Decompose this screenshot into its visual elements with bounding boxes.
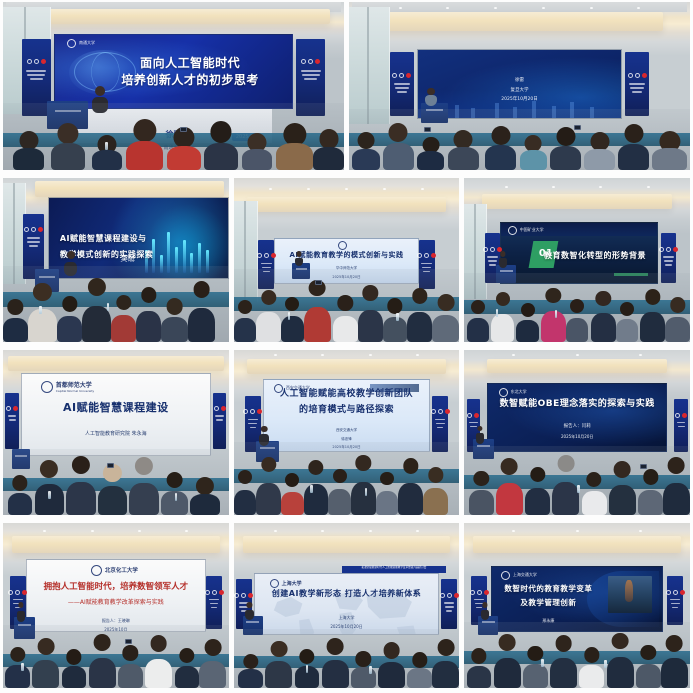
led-screen-6: 首都师范大学 Capital Normal University AI赋能智慧课… <box>21 373 211 456</box>
speaker-head <box>67 251 75 259</box>
banner-logo-icons <box>431 409 450 414</box>
audience-area <box>464 446 690 516</box>
phone-icon <box>640 464 647 469</box>
photo-tile-7[interactable]: 西安交通大学 人工智能赋能高校教学创新团队 的培育模式与路径探索 西安交通大学 … <box>234 350 460 516</box>
ceiling-light-cove <box>12 536 220 552</box>
audience-person <box>304 460 329 515</box>
university-seal-icon <box>274 384 283 393</box>
audience-person <box>609 461 636 515</box>
water-bottle <box>310 485 313 493</box>
audience-person <box>118 645 143 688</box>
audience-person <box>333 295 358 341</box>
header-strip-text: 拓课堂赋能新时代人工智能赋能教学变革暨第六届研讨会 <box>342 566 446 571</box>
audience-person <box>57 296 82 341</box>
speaker-head <box>296 251 301 256</box>
audience-person <box>161 298 188 342</box>
audience-person <box>265 641 292 688</box>
banner-logo-icons <box>234 593 253 598</box>
slide-title-line2: 及教学管理创新 <box>510 598 586 608</box>
ceiling-downlights <box>252 188 442 190</box>
speaker-figure <box>17 602 26 622</box>
slide-title-line1: 创建AI教学新形态 打造人才培养新体系 <box>261 589 432 600</box>
slide-title-line2: ——AI赋能教育教学改革探索与实践 <box>68 597 164 606</box>
university-seal-icon <box>501 571 510 580</box>
audience-person <box>552 455 579 515</box>
banner-logo-icons <box>205 590 224 595</box>
banner-logo-icons <box>8 590 27 595</box>
university-seal-icon <box>270 579 279 588</box>
audience-person <box>494 634 521 688</box>
speaker-body <box>245 610 253 621</box>
speaker-affiliation: 复旦大学 <box>511 88 529 95</box>
audience-person <box>665 297 690 341</box>
speaker-body <box>17 611 25 622</box>
audience-person <box>313 129 344 169</box>
audience-person <box>136 287 161 341</box>
audience-person <box>584 132 615 169</box>
phone-icon <box>107 463 114 468</box>
phone-icon <box>424 127 431 132</box>
audience-person <box>376 472 399 516</box>
slide-title-line2: 的培育模式与路径探索 <box>289 404 404 416</box>
audience-person <box>469 471 494 516</box>
side-banner-right <box>625 52 649 116</box>
ceiling-light-cove <box>243 536 451 552</box>
banner-logo-icons <box>392 73 411 78</box>
university-name: 东北大学 <box>511 389 527 395</box>
banner-logo-icons <box>417 253 436 258</box>
ceiling-light-cove <box>473 536 681 552</box>
audience-person <box>28 283 57 342</box>
audience-person <box>378 642 405 688</box>
banner-text-lines <box>670 596 682 611</box>
university-name: 南通大学 <box>79 40 95 46</box>
ceiling-light-cove <box>247 197 446 212</box>
audience-person <box>351 455 376 515</box>
slide-date: 2025年10月20日 <box>561 434 593 440</box>
photo-tile-8[interactable]: 东北大学 数智赋能OBE理念落实的探索与实践 报告人：闫莉 2025年10月20… <box>464 350 690 516</box>
photo-tile-5[interactable]: 中国矿业大学 01 教育数智化转型的形势背景 <box>464 178 690 342</box>
university-name: 北京化工大学 <box>105 566 138 574</box>
side-banner-left <box>390 52 414 116</box>
university-logo-11: 上海交通大学 <box>501 571 537 580</box>
university-logo-7: 西安交通大学 <box>274 384 310 393</box>
audience-person <box>582 472 607 515</box>
audience-person <box>496 458 523 515</box>
audience-person <box>663 457 690 515</box>
audience-person <box>51 123 85 170</box>
audience-area <box>3 266 229 341</box>
banner-logo-icons <box>214 406 226 411</box>
speaker-figure <box>498 251 507 267</box>
audience-person <box>467 648 492 688</box>
university-logo-9: 北京化工大学 <box>91 565 138 576</box>
audience-area <box>3 625 229 688</box>
slide-title-line1: 数智时代的教育教学变革 <box>494 584 602 594</box>
audience-area <box>464 622 690 688</box>
photo-tile-9[interactable]: 北京化工大学 拥抱人工智能时代，培养数智领军人才 ——AI赋能教育教学改革探索与… <box>3 523 229 688</box>
audience-person <box>607 633 634 688</box>
audience-person <box>407 288 432 341</box>
water-bottle <box>577 485 580 493</box>
university-name: 首都师范大学 <box>56 380 94 389</box>
audience-person <box>467 300 490 341</box>
audience-person <box>358 285 383 341</box>
banner-text-lines <box>26 68 47 83</box>
speaker-figure <box>480 602 489 620</box>
banner-logo-icons <box>470 590 489 595</box>
audience-person <box>618 124 649 170</box>
audience-person <box>432 294 459 342</box>
banner-logo-icons <box>243 409 262 414</box>
university-logo-6: 首都师范大学 Capital Normal University <box>41 380 94 393</box>
banner-text-lines <box>247 416 259 431</box>
photo-tile-1[interactable]: 南通大学 面向人工智能时代 培养创新人才的初步思考 徐骏 南通大学 2025.1… <box>3 2 344 170</box>
side-banner-left <box>5 393 19 449</box>
ceiling-downlights <box>482 530 672 532</box>
banner-logo-icons <box>628 73 647 78</box>
audience-area <box>234 269 460 341</box>
led-screen-1: 南通大学 面向人工智能时代 培养创新人才的初步思考 <box>54 34 293 109</box>
slide-title-line1: 面向人工智能时代 <box>126 55 254 71</box>
ceiling-light-cove <box>376 12 662 30</box>
ceiling-downlights <box>482 186 672 188</box>
university-logo-1: 南通大学 <box>67 39 95 48</box>
banner-text-lines <box>434 416 446 431</box>
speaker-figure <box>295 251 304 266</box>
water-bottle <box>48 491 51 499</box>
audience-area <box>3 103 344 170</box>
audience-person <box>591 291 616 342</box>
speaker-head <box>18 602 23 607</box>
photo-tile-2[interactable]: AI时代人才培养改革方向与路径 徐雷 复旦大学 2025年10月20日 <box>349 2 690 170</box>
audience-person <box>398 458 423 515</box>
speaker-head <box>247 602 252 607</box>
slide-title-line1: AI赋能智慧课程建设 <box>52 401 180 416</box>
led-screen-8: 东北大学 数智赋能OBE理念落实的探索与实践 报告人：闫莉 2025年10月20… <box>487 383 668 453</box>
audience-person <box>640 289 665 341</box>
audience-person <box>3 299 28 341</box>
audience-person <box>234 470 257 515</box>
university-name: 上海交通大学 <box>513 572 537 578</box>
university-name-en: Capital Normal University <box>56 389 94 393</box>
speaker-head <box>427 88 435 96</box>
university-seal-icon <box>67 39 76 48</box>
audience-area <box>349 109 690 169</box>
ceiling-light-cove <box>487 359 668 372</box>
banner-text-lines <box>393 81 411 96</box>
campus-photo-inset <box>608 576 652 613</box>
audience-person <box>89 634 116 688</box>
speaker-body <box>295 258 303 267</box>
audience-area <box>3 449 229 515</box>
audience-person <box>550 127 581 169</box>
audience-person <box>566 299 589 342</box>
audience-person <box>188 281 215 341</box>
water-bottle <box>107 303 110 311</box>
audience-person <box>242 133 273 170</box>
audience-person <box>516 303 539 342</box>
audience-person <box>525 467 550 516</box>
water-bottle <box>555 310 558 318</box>
university-seal-icon <box>41 381 53 393</box>
window-wall <box>349 7 390 124</box>
collage-row-2: AI赋能智慧课程建设与 教学模式创新的实践探索 吴砥 <box>3 178 690 342</box>
audience-person <box>175 648 200 688</box>
audience-person <box>579 647 604 688</box>
audience-person <box>126 119 164 170</box>
speaker-figure <box>245 602 254 620</box>
audience-person <box>541 288 566 342</box>
ceiling-downlights <box>482 354 672 356</box>
banner-logo-icons <box>27 59 46 64</box>
audience-person <box>98 464 127 516</box>
audience-person <box>256 457 281 515</box>
audience-person <box>66 456 95 516</box>
led-screen-9: 北京化工大学 拥抱人工智能时代，培养数智领军人才 ——AI赋能教育教学改革探索与… <box>26 559 207 631</box>
audience-person <box>638 469 663 515</box>
university-seal-icon <box>338 241 347 250</box>
audience-person <box>5 647 30 688</box>
audience-person <box>129 457 158 515</box>
speaker-name: 人工智能教育研究院 朱永海 <box>85 431 147 439</box>
banner-text-lines <box>215 413 225 424</box>
audience-person <box>383 298 408 341</box>
side-banner-right <box>674 399 688 452</box>
ceiling-light-cove <box>17 9 331 24</box>
speaker-head <box>500 251 505 256</box>
audience-person <box>238 654 263 688</box>
audience-person <box>234 300 257 342</box>
audience-area <box>464 273 690 342</box>
side-banner-right <box>213 393 227 449</box>
water-bottle <box>604 660 607 668</box>
speaker-name: 上海大学 <box>339 615 355 621</box>
audience-person <box>661 635 688 688</box>
ceiling-light-cove <box>35 181 225 197</box>
university-logo-8: 东北大学 <box>499 388 527 397</box>
audience-person <box>485 126 516 169</box>
collage-row-1: 南通大学 面向人工智能时代 培养创新人才的初步思考 徐骏 南通大学 2025.1… <box>3 2 690 170</box>
photo-tile-4[interactable]: AI赋能教育教学的模式创新与实践 华中师范大学 2025年10月20日 <box>234 178 460 342</box>
slide-title-line2: 教学模式创新的实践探索 <box>60 250 228 261</box>
audience-person <box>432 639 459 688</box>
speaker-name: 报告人：王晓琳 <box>102 618 130 624</box>
audience-person <box>111 295 136 342</box>
collage-row-4: 北京化工大学 拥抱人工智能时代，培养数智领军人才 ——AI赋能教育教学改革探索与… <box>3 523 690 688</box>
water-bottle <box>21 663 24 671</box>
audience-person <box>491 292 514 342</box>
audience-person <box>407 652 432 688</box>
photo-tile-3[interactable]: AI赋能智慧课程建设与 教学模式创新的实践探索 吴砥 <box>3 178 229 342</box>
water-bottle <box>365 488 368 496</box>
header-strip: 拓课堂赋能新时代人工智能赋能教学变革暨第六届研讨会 <box>342 566 446 573</box>
audience-person <box>351 651 376 688</box>
audience-person <box>352 132 379 169</box>
photo-tile-11[interactable]: 上海交通大学 数智时代的教育教学变革 及教学管理创新 邢永康 <box>464 523 690 688</box>
university-name: 上海大学 <box>282 580 302 587</box>
university-seal-icon <box>508 226 517 235</box>
ceiling-light-cove <box>8 356 225 371</box>
audience-person <box>35 460 64 516</box>
university-seal-icon <box>91 565 102 576</box>
audience-person <box>276 123 314 170</box>
audience-person <box>550 635 577 688</box>
water-bottle <box>105 142 108 150</box>
campus-tower-icon <box>625 580 633 602</box>
side-banner-right <box>206 576 222 629</box>
audience-person <box>423 467 448 515</box>
phone-icon <box>574 125 581 130</box>
side-banner-right <box>441 579 457 628</box>
university-name: 中国矿业大学 <box>520 227 544 233</box>
banner-text-lines <box>676 419 686 430</box>
water-bottle <box>541 659 544 667</box>
banner-logo-icons <box>440 593 459 598</box>
banner-logo-icons <box>6 406 18 411</box>
banner-logo-icons <box>659 247 678 252</box>
speaker-body <box>425 95 438 106</box>
speaker-body <box>476 433 484 444</box>
audience-person <box>322 638 349 688</box>
water-bottle <box>396 313 399 321</box>
speaker-head <box>478 426 483 431</box>
slide-title-line1: 教育数智化转型的形势背景 <box>535 251 656 262</box>
audience-person <box>62 649 87 688</box>
ceiling-downlights <box>21 530 211 532</box>
speaker-head <box>95 86 105 96</box>
audience-person <box>652 131 686 170</box>
audience-area <box>234 442 460 515</box>
banner-text-lines <box>208 596 220 611</box>
banner-logo-icons <box>467 413 479 418</box>
ceiling-light-cove <box>482 194 672 209</box>
audience-person <box>281 473 304 515</box>
phone-icon <box>125 639 132 644</box>
university-logo-4 <box>338 241 347 250</box>
audience-person <box>328 469 351 516</box>
water-bottle <box>288 312 291 320</box>
speaker-name: 报告人：闫莉 <box>564 424 591 431</box>
ceiling-light-cove <box>247 359 446 374</box>
led-screen-7: 西安交通大学 人工智能赋能高校教学创新团队 的培育模式与路径探索 西安交通大学 … <box>263 379 430 452</box>
banner-text-lines <box>443 600 455 615</box>
audience-person <box>167 127 201 170</box>
photo-collage: 南通大学 面向人工智能时代 培养创新人才的初步思考 徐骏 南通大学 2025.1… <box>0 0 693 693</box>
ceiling-downlights <box>252 530 442 532</box>
university-logo-10: 上海大学 <box>270 579 302 588</box>
slide-title-line1: 拥抱人工智能时代，培养数智领军人才 <box>44 580 189 592</box>
audience-person <box>520 135 547 170</box>
slide-title-line2: 培养创新人才的初步思考 <box>107 72 273 88</box>
collage-row-3: 首都师范大学 Capital Normal University AI赋能智慧课… <box>3 350 690 516</box>
water-bottle <box>175 493 178 501</box>
audience-person <box>417 137 444 170</box>
speaker-body <box>499 258 507 268</box>
speaker-name: 徐忠锋 <box>341 437 352 442</box>
speaker-figure <box>424 88 438 106</box>
banner-logo-icons <box>666 590 685 595</box>
audience-person <box>199 639 226 688</box>
audience-person <box>145 635 172 688</box>
speaker-body <box>481 610 489 621</box>
speaker-name: 徐雷 <box>515 78 524 85</box>
audience-person <box>383 123 414 170</box>
slide-title-line1: AI赋能智慧课程建设与 <box>60 234 228 245</box>
photo-tile-10[interactable]: 拓课堂赋能新时代人工智能赋能教学变革暨第六届研讨会 <box>234 523 460 688</box>
water-bottle <box>39 306 42 314</box>
speaker-signature: 吴砥 <box>121 254 135 264</box>
slide-date: 2025年10月20日 <box>501 97 537 104</box>
phone-icon <box>180 127 187 132</box>
speaker-head <box>261 426 268 433</box>
audience-person <box>256 290 281 342</box>
audience-area <box>234 629 460 688</box>
banner-text-lines <box>7 413 17 424</box>
university-name: 西安交通大学 <box>286 385 310 391</box>
water-bottle <box>306 665 309 673</box>
water-bottle <box>369 666 372 674</box>
side-banner-right <box>667 576 683 625</box>
audience-person <box>32 638 59 688</box>
audience-person <box>281 297 304 342</box>
ceiling-downlights <box>252 354 442 356</box>
banner-text-lines <box>26 235 41 250</box>
speaker-affiliation: 西安交通大学 <box>336 428 357 433</box>
banner-logo-icons <box>24 227 43 232</box>
led-screen-10: 上海大学 创建AI教学新形态 打造人才培养新体系 上海大学 2025年10月20… <box>254 573 439 636</box>
audience-person <box>190 477 219 515</box>
banner-text-lines <box>663 254 675 269</box>
audience-person <box>523 646 548 688</box>
audience-person <box>448 130 479 170</box>
banner-logo-icons <box>675 413 687 418</box>
audience-person <box>204 121 238 169</box>
university-seal-icon <box>499 388 508 397</box>
audience-person <box>92 135 123 170</box>
speaker-figure <box>476 426 485 444</box>
audience-person <box>616 302 639 342</box>
audience-person <box>636 645 661 688</box>
ceiling-downlights <box>376 7 662 9</box>
banner-logo-icons <box>301 59 320 64</box>
banner-logo-icons <box>257 253 276 258</box>
audience-person <box>304 280 331 342</box>
banner-text-lines <box>628 81 646 96</box>
speaker-head <box>482 602 487 607</box>
phone-icon <box>315 280 322 285</box>
banner-text-lines <box>300 68 321 83</box>
university-logo-5: 中国矿业大学 <box>508 226 544 235</box>
slide-title-line1: 数智赋能OBE理念落实的探索与实践 <box>489 398 666 410</box>
photo-tile-6[interactable]: 首都师范大学 Capital Normal University AI赋能智慧课… <box>3 350 229 516</box>
audience-person <box>13 131 44 170</box>
audience-person <box>8 475 33 515</box>
